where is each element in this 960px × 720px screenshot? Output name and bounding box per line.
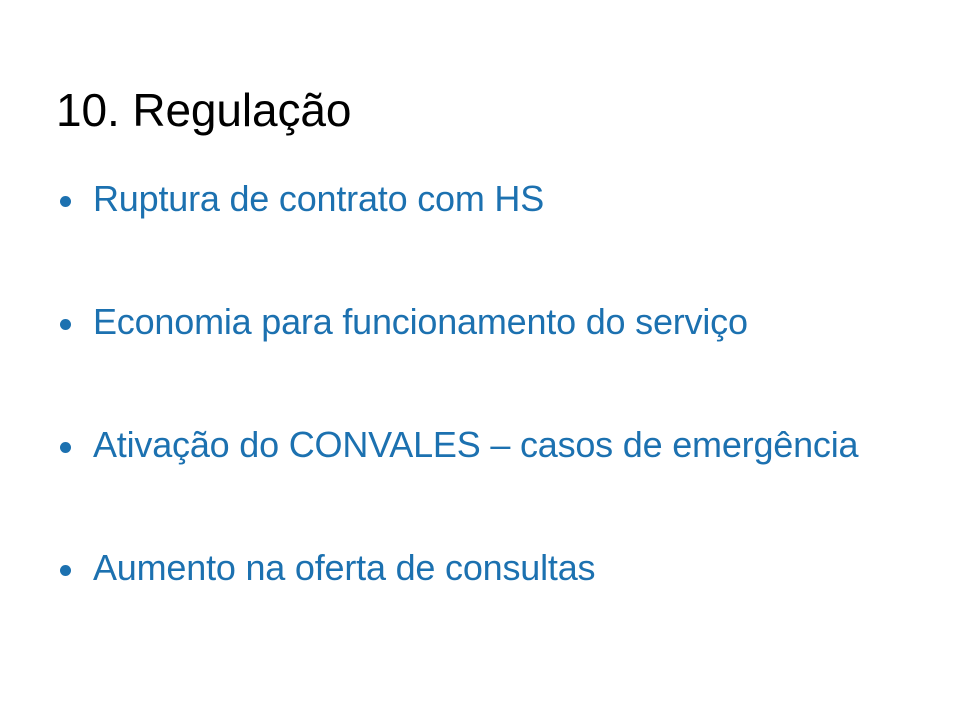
bullet-dot-icon [60,196,71,207]
list-item-label: Aumento na oferta de consultas [93,547,595,589]
slide-title: 10. Regulação [56,86,351,136]
list-item: Economia para funcionamento do serviço [56,301,926,424]
list-item: Ruptura de contrato com HS [56,178,926,301]
list-item: Aumento na oferta de consultas [56,547,926,670]
presentation-slide: 10. Regulação Ruptura de contrato com HS… [0,0,960,720]
list-item-label: Ativação do CONVALES – casos de emergênc… [93,424,858,466]
bullet-dot-icon [60,442,71,453]
bullet-list: Ruptura de contrato com HS Economia para… [56,178,926,670]
list-item: Ativação do CONVALES – casos de emergênc… [56,424,926,547]
bullet-dot-icon [60,565,71,576]
bullet-dot-icon [60,319,71,330]
list-item-label: Economia para funcionamento do serviço [93,301,748,343]
list-item-label: Ruptura de contrato com HS [93,178,544,220]
